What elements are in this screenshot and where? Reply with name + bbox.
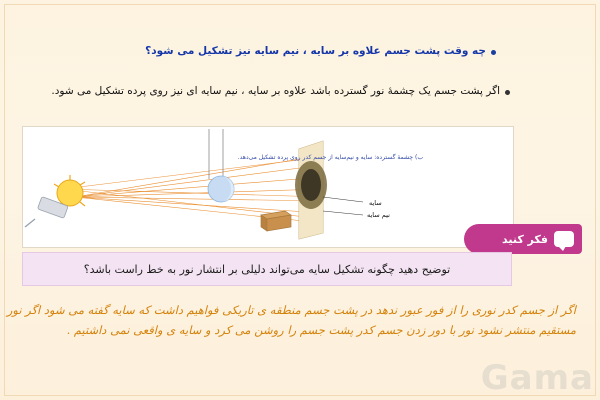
think-tab-label: فکر کنید	[502, 233, 548, 246]
think-section-body: توضیح دهید چگونه تشکیل سایه می‌تواند دلی…	[22, 252, 512, 286]
question-2-text: اگر پشت جسم یک چشمهٔ نور گسترده باشد علا…	[51, 84, 500, 99]
figure-label-penumbra: نیم سایه	[367, 211, 390, 221]
physics-diagram-figure: ب) چشمهٔ گسترده: سایه و نیم‌سایه از جسم …	[22, 126, 514, 248]
diagram-svg	[23, 127, 513, 247]
bullet-dot-icon	[505, 90, 510, 95]
figure-label-shadow: سایه	[369, 199, 382, 209]
question-line-2: اگر پشت جسم یک چشمهٔ نور گسترده باشد علا…	[51, 84, 510, 99]
answer-line-1: اگر از جسم کدر نوری را از فور عبور ندهد …	[30, 300, 576, 320]
handwritten-answer: اگر از جسم کدر نوری را از فور عبور ندهد …	[30, 300, 576, 340]
question-1-text: چه وقت پشت جسم علاوه بر سایه ، نیم سایه …	[145, 44, 486, 59]
watermark-logo: Gama	[481, 358, 594, 398]
bullet-dot-icon	[491, 50, 496, 55]
speech-bubble-icon	[554, 231, 574, 247]
figure-caption: ب) چشمهٔ گسترده: سایه و نیم‌سایه از جسم …	[323, 153, 423, 162]
question-line-1: چه وقت پشت جسم علاوه بر سایه ، نیم سایه …	[145, 44, 496, 59]
think-prompt-text: توضیح دهید چگونه تشکیل سایه می‌تواند دلی…	[84, 263, 450, 276]
think-section-tab: فکر کنید	[464, 224, 582, 254]
slide-canvas: چه وقت پشت جسم علاوه بر سایه ، نیم سایه …	[0, 0, 600, 400]
answer-line-2: مستقیم منتشر نشود نور با دور زدن جسم کدر…	[30, 320, 576, 340]
